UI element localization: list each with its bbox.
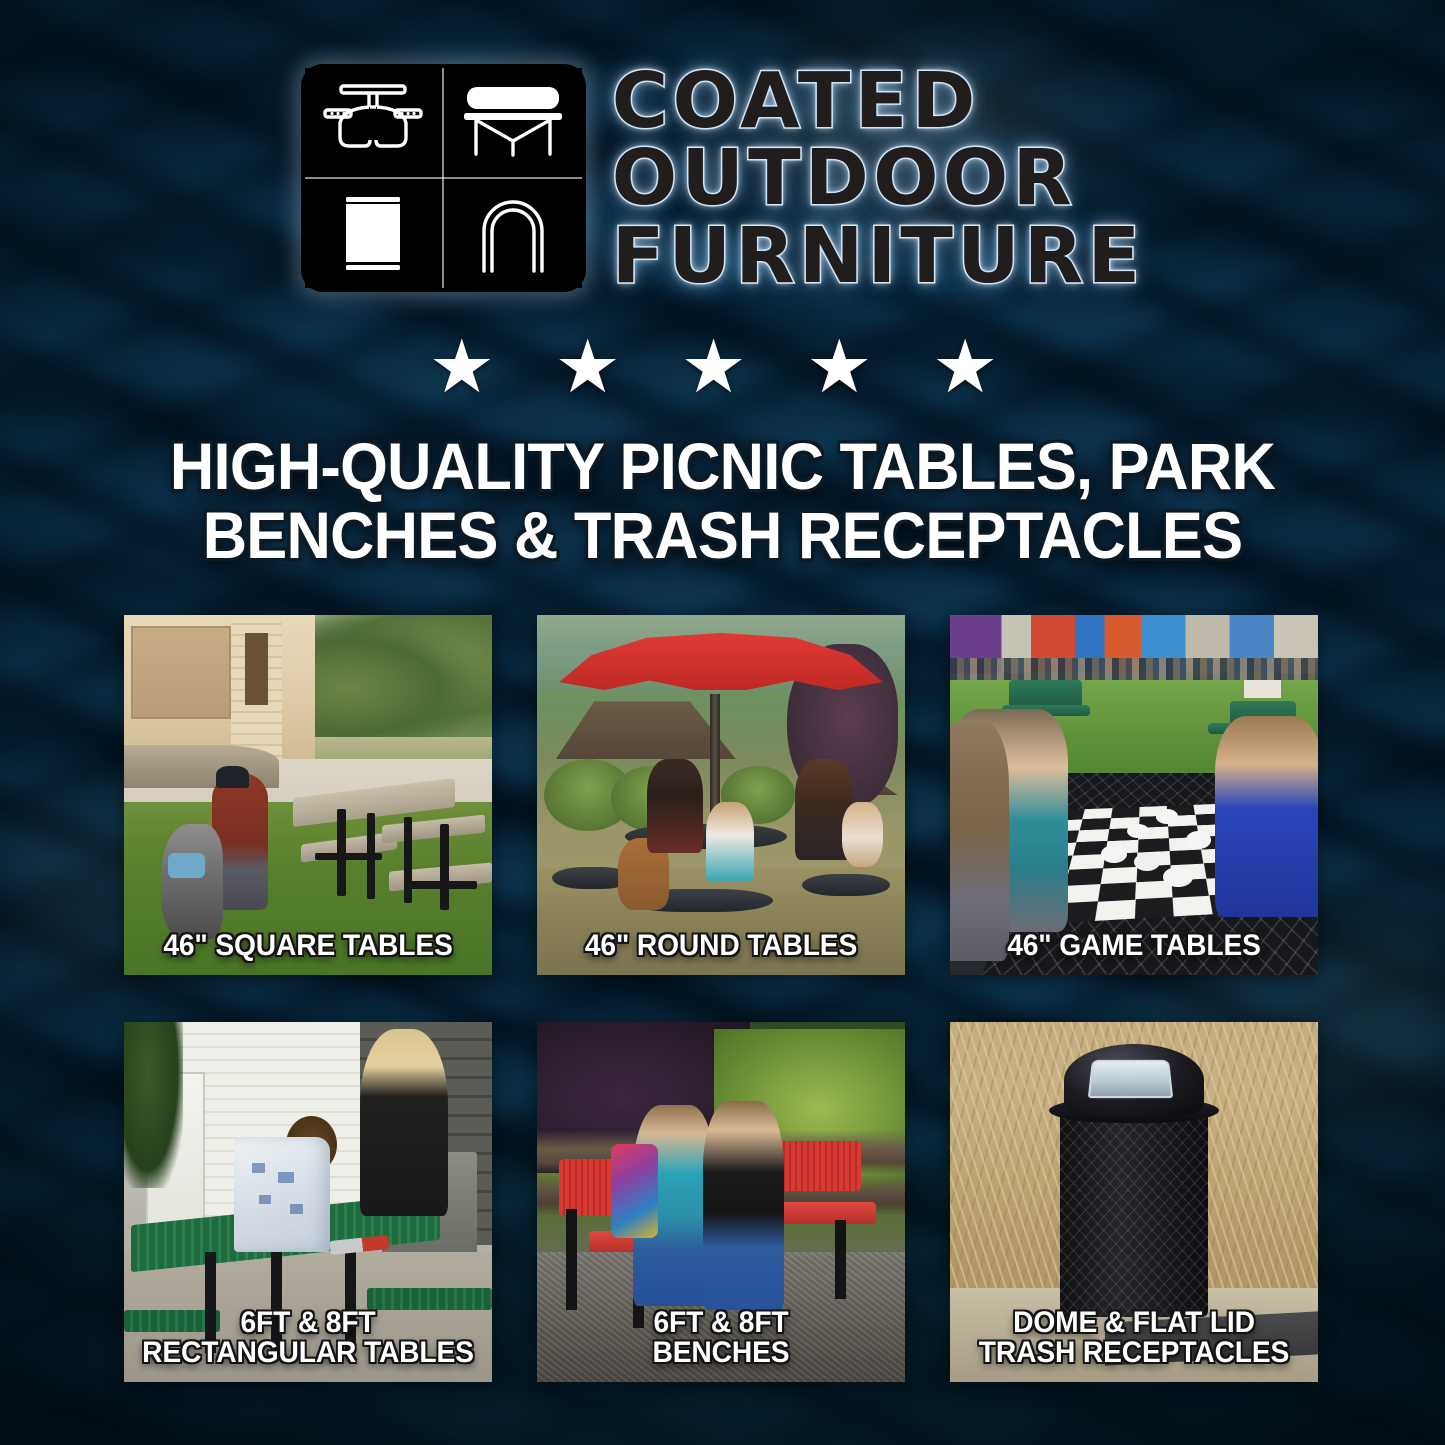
brand-logo: COATED OUTDOOR FURNITURE — [0, 62, 1445, 294]
product-caption: 46" SQUARE TABLES — [141, 931, 476, 961]
product-card-square-tables[interactable]: 46" SQUARE TABLES — [124, 615, 492, 975]
product-photo-game-tables — [950, 615, 1318, 975]
product-caption: 46" GAME TABLES — [967, 931, 1302, 961]
product-card-benches[interactable]: 6FT & 8FT BENCHES — [537, 1022, 905, 1382]
brand-name-line-2: OUTDOOR — [612, 141, 1145, 216]
brand-name-line-3: FURNITURE — [612, 219, 1145, 294]
caption-line-1: 6FT & 8FT — [141, 1308, 476, 1338]
caption-line-1: 6FT & 8FT — [554, 1308, 889, 1338]
page-title: HIGH-QUALITY PICNIC TABLES, PARK BENCHES… — [106, 432, 1338, 569]
product-grid: 46" SQUARE TABLES — [124, 615, 1322, 1382]
product-card-rectangular-tables[interactable]: 6FT & 8FT RECTANGULAR TABLES — [124, 1022, 492, 1382]
logo-icon-grid — [301, 64, 586, 292]
brand-name-line-1: COATED — [612, 64, 1145, 139]
product-card-trash-receptacles[interactable]: DOME & FLAT LID TRASH RECEPTACLES — [950, 1022, 1318, 1382]
headline-line-2: BENCHES & TRASH RECEPTACLES — [106, 501, 1338, 570]
product-caption: 6FT & 8FT BENCHES — [554, 1308, 889, 1368]
caption-line-2: TRASH RECEPTACLES — [967, 1338, 1302, 1368]
caption-line-2: RECTANGULAR TABLES — [141, 1338, 476, 1368]
poster-canvas: COATED OUTDOOR FURNITURE ★ ★ ★ ★ ★ HIGH-… — [0, 0, 1445, 1445]
caption-line-2: BENCHES — [554, 1338, 889, 1368]
park-bench-icon — [445, 68, 582, 177]
trash-receptacle-icon — [305, 180, 442, 289]
caption-line-1: 46" SQUARE TABLES — [141, 931, 476, 961]
product-caption: 6FT & 8FT RECTANGULAR TABLES — [141, 1308, 476, 1368]
product-photo-square-tables — [124, 615, 492, 975]
product-caption: 46" ROUND TABLES — [554, 931, 889, 961]
star-rating: ★ ★ ★ ★ ★ — [0, 330, 1445, 404]
bike-rack-icon — [445, 180, 582, 289]
product-caption: DOME & FLAT LID TRASH RECEPTACLES — [967, 1308, 1302, 1368]
product-card-round-tables[interactable]: 46" ROUND TABLES — [537, 615, 905, 975]
caption-line-1: 46" ROUND TABLES — [554, 931, 889, 961]
brand-wordmark: COATED OUTDOOR FURNITURE — [612, 62, 1145, 294]
caption-line-1: DOME & FLAT LID — [967, 1308, 1302, 1338]
headline-line-1: HIGH-QUALITY PICNIC TABLES, PARK — [106, 432, 1338, 501]
picnic-table-icon — [305, 68, 442, 177]
product-card-game-tables[interactable]: 46" GAME TABLES — [950, 615, 1318, 975]
product-photo-round-tables — [537, 615, 905, 975]
caption-line-1: 46" GAME TABLES — [967, 931, 1302, 961]
